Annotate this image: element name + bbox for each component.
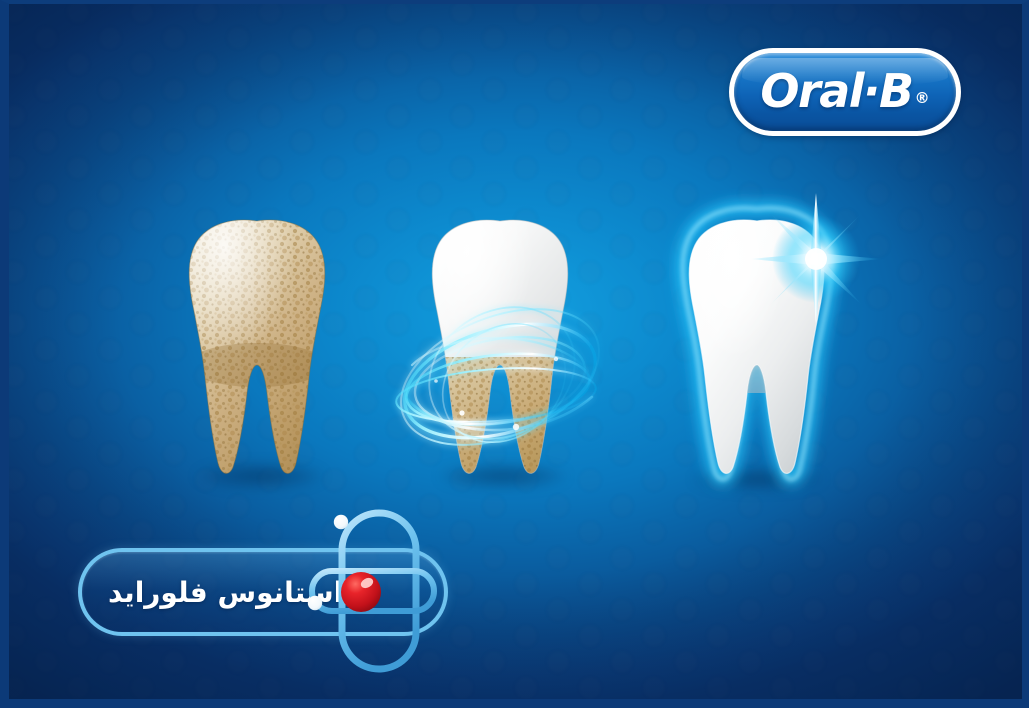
cleaning-swirl-effect [366, 285, 634, 475]
poster-canvas: Oral·B ® [0, 0, 1029, 708]
tooth-stained [175, 215, 340, 480]
registered-trademark-icon: ® [915, 91, 930, 106]
oral-b-logo[interactable]: Oral·B ® [729, 48, 961, 136]
atom-icon [300, 505, 460, 677]
tooth-stained-illustration [175, 215, 340, 480]
logo-pill-inner: Oral·B ® [734, 53, 956, 131]
tooth-clean [668, 205, 846, 485]
logo-wordmark: Oral·B [760, 68, 912, 114]
atom-nucleus [341, 572, 381, 612]
atom-electron-top [334, 515, 348, 529]
sparkle-icon [746, 189, 886, 329]
atom-electron-left [308, 596, 322, 610]
tooth-cleaning [418, 215, 583, 480]
